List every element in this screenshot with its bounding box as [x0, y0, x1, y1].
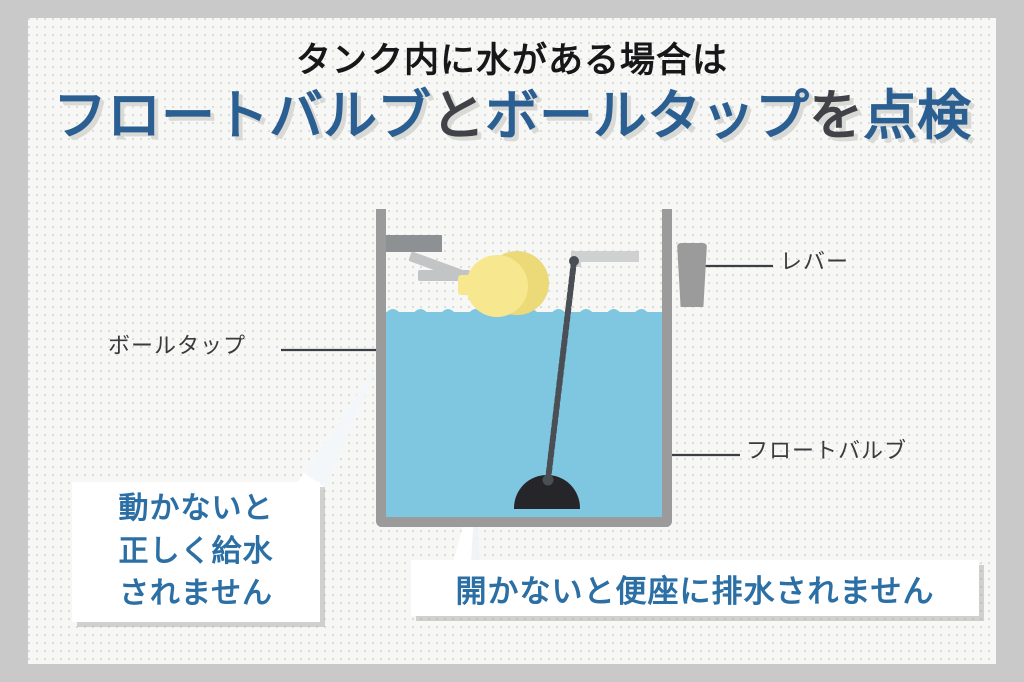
callout-right-text: 開かないと便座に排水されません [455, 566, 934, 611]
label-float-valve: フロートバルブ [746, 433, 907, 465]
title-part-wo: を [809, 84, 863, 147]
title-part-inspect: 点検 [863, 84, 971, 147]
title-block: タンク内に水がある場合は フロートバルブとボールタップを点検 [28, 42, 996, 147]
label-lever: レバー [780, 244, 849, 276]
toilet-tank-diagram [358, 203, 728, 538]
infographic-canvas: タンク内に水がある場合は フロートバルブとボールタップを点検 [0, 0, 1024, 682]
lever-handle [677, 243, 707, 307]
ball-float-front [466, 255, 528, 317]
label-ball-tap: ボールタップ [108, 328, 246, 360]
content-panel: タンク内に水がある場合は フロートバルブとボールタップを点検 [28, 18, 996, 664]
callout-ball-tap-warning: 動かないと 正しく給水 されません [72, 482, 320, 622]
page-title-line1: タンク内に水がある場合は [28, 42, 996, 81]
lever-arm-joint [571, 251, 581, 267]
callout-float-valve-warning: 開かないと便座に排水されません [411, 560, 979, 616]
ball-tap-bracket [386, 235, 442, 252]
title-part-float-valve: フロートバルブ [53, 84, 431, 147]
title-part-to: と [431, 84, 485, 147]
callout-left-line1: 動かないと [72, 488, 320, 531]
callout-left-line2: 正しく給水 [72, 531, 320, 574]
title-part-ball-tap: ボールタップ [485, 84, 809, 147]
page-title-line2: フロートバルブとボールタップを点検 [28, 85, 996, 147]
lever-arm [571, 251, 639, 262]
callout-left-line3: されません [72, 573, 320, 616]
